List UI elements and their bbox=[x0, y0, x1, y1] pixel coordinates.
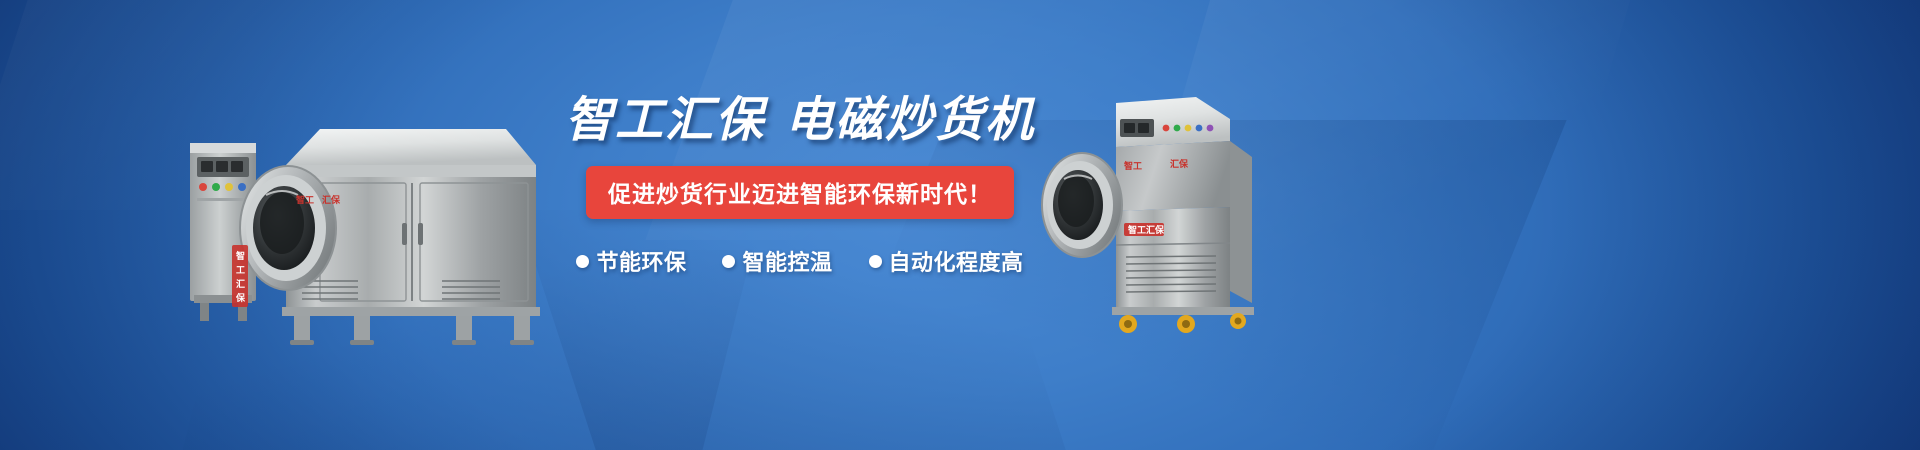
feature-item-1: 节能环保 bbox=[576, 245, 686, 277]
promotional-banner: 智工 汇保 智 工 汇 保 bbox=[0, 0, 1920, 450]
banner-text-block: 智工汇保电磁炒货机 促进炒货行业迈进智能环保新时代！ 节能环保 智能控温 自动化… bbox=[560, 96, 1040, 277]
title-part-2: 电磁炒货机 bbox=[785, 94, 1035, 147]
feature-label-1: 节能环保 bbox=[596, 245, 686, 277]
svg-text:工: 工 bbox=[236, 265, 245, 275]
feature-item-2: 智能控温 bbox=[722, 245, 832, 277]
svg-text:智工: 智工 bbox=[1124, 160, 1142, 171]
subtitle-row: 促进炒货行业迈进智能环保新时代！ bbox=[560, 166, 1040, 219]
svg-text:汇保: 汇保 bbox=[322, 194, 341, 205]
svg-text:智工: 智工 bbox=[296, 194, 314, 205]
svg-text:智: 智 bbox=[236, 250, 245, 261]
feature-label-3: 自动化程度高 bbox=[889, 245, 1024, 277]
product-image-roaster-small: 智工 汇保 智工汇保 bbox=[1020, 95, 1270, 355]
roaster-drum-left bbox=[240, 166, 336, 290]
title-part-1: 智工汇保 bbox=[565, 94, 765, 147]
svg-text:智工汇保: 智工汇保 bbox=[1128, 224, 1165, 235]
svg-text:汇保: 汇保 bbox=[1170, 158, 1189, 169]
product-image-roaster-large: 智工 汇保 智 工 汇 保 bbox=[170, 95, 570, 355]
svg-text:汇: 汇 bbox=[236, 278, 245, 289]
roaster-drum-right bbox=[1042, 153, 1122, 257]
feature-list: 节能环保 智能控温 自动化程度高 bbox=[560, 245, 1040, 277]
svg-text:保: 保 bbox=[235, 292, 246, 303]
page-title: 智工汇保电磁炒货机 bbox=[560, 96, 1040, 146]
roaster-body-right bbox=[1112, 97, 1254, 333]
filled-circle-bullet-icon bbox=[576, 255, 589, 268]
subtitle-badge: 促进炒货行业迈进智能环保新时代！ bbox=[586, 166, 1014, 219]
feature-label-2: 智能控温 bbox=[742, 245, 832, 277]
feature-item-3: 自动化程度高 bbox=[869, 245, 1024, 277]
filled-circle-bullet-icon bbox=[722, 255, 735, 268]
filled-circle-bullet-icon bbox=[869, 255, 882, 268]
